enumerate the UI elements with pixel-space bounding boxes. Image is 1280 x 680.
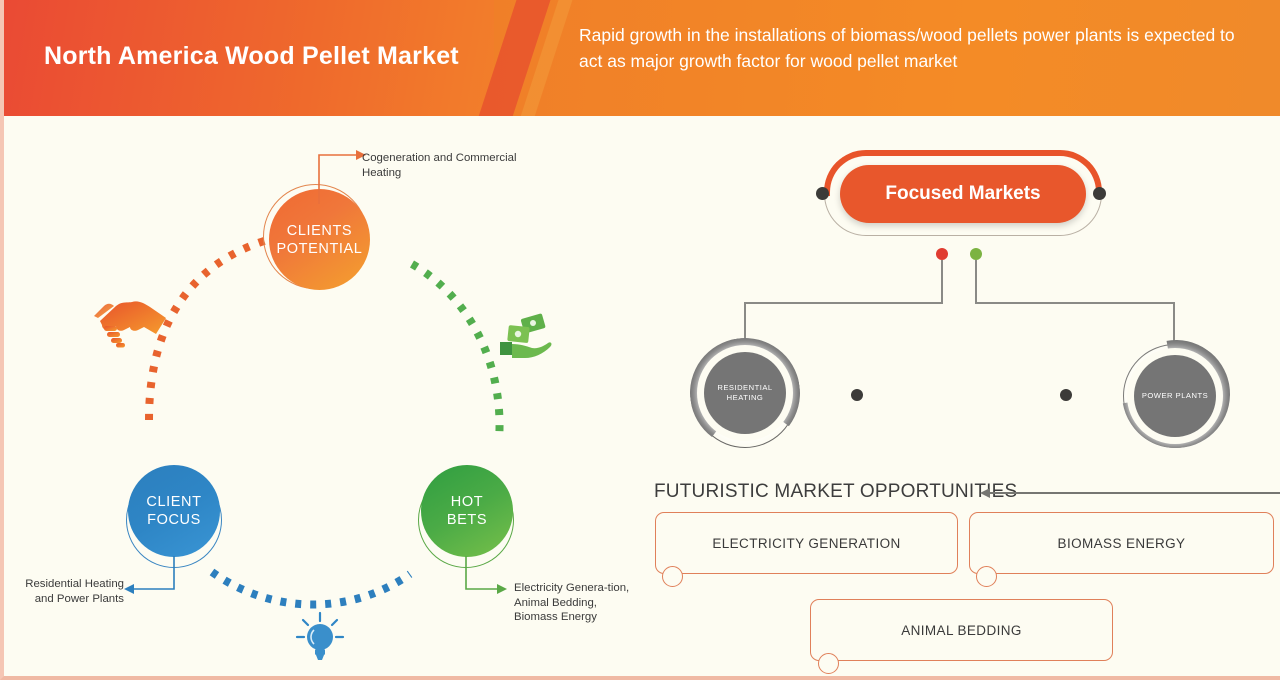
connector-red-vertical: [941, 260, 943, 304]
separator-dot-right: [1060, 389, 1072, 401]
pin-residential[interactable]: [936, 248, 948, 260]
lightbulb-icon: [292, 610, 348, 666]
connector-right-drop: [1173, 302, 1175, 344]
focused-markets-pill[interactable]: Focused Markets: [840, 165, 1086, 223]
residential-heating-label-line1: RESIDENTIAL: [717, 383, 772, 393]
box-biomass-energy[interactable]: BIOMASS ENERGY: [969, 512, 1274, 574]
page-title: North America Wood Pellet Market: [44, 42, 514, 71]
box-electricity-generation[interactable]: ELECTRICITY GENERATION: [655, 512, 958, 574]
clients-potential-label-line2: POTENTIAL: [277, 240, 363, 258]
box-electricity-generation-label: ELECTRICITY GENERATION: [712, 536, 900, 551]
focused-markets-dot-right: [1093, 187, 1106, 200]
box-biomass-energy-label: BIOMASS ENERGY: [1058, 536, 1186, 551]
header-subtitle: Rapid growth in the installations of bio…: [579, 22, 1239, 74]
futuristic-section-title: FUTURISTIC MARKET OPPORTUNITIES: [654, 481, 1017, 503]
client-focus-circle[interactable]: CLIENT FOCUS: [128, 465, 220, 557]
client-focus-label-line1: CLIENT: [146, 493, 201, 511]
box-animal-bedding-label: ANIMAL BEDDING: [901, 623, 1022, 638]
residential-heating-circle[interactable]: RESIDENTIAL HEATING: [704, 352, 786, 434]
box-biomass-energy-knob: [976, 566, 997, 587]
hot-bets-circle[interactable]: HOT BETS: [421, 465, 513, 557]
callout-label-cogeneration: Cogeneration and Commercial Heating: [362, 151, 537, 180]
money-hand-icon: [498, 310, 554, 362]
callout-connector-residential: [112, 548, 232, 618]
box-animal-bedding[interactable]: ANIMAL BEDDING: [810, 599, 1113, 661]
connector-green-vertical: [975, 260, 977, 304]
hot-bets-label-line2: BETS: [447, 511, 487, 529]
box-animal-bedding-knob: [818, 653, 839, 674]
power-plants-circle[interactable]: POWER PLANTS: [1134, 355, 1216, 437]
handshake-icon: [94, 294, 172, 352]
residential-heating-label-line2: HEATING: [717, 393, 772, 403]
header-banner: North America Wood Pellet Market Rapid g…: [4, 0, 1280, 116]
dotted-arc-green: [394, 250, 574, 480]
focused-markets-dot-left: [816, 187, 829, 200]
power-plants-label: POWER PLANTS: [1142, 391, 1208, 401]
clients-potential-label-line1: CLIENTS: [277, 222, 363, 240]
hot-bets-label-line1: HOT: [447, 493, 487, 511]
box-electricity-generation-knob: [662, 566, 683, 587]
infographic-canvas: North America Wood Pellet Market Rapid g…: [0, 0, 1280, 680]
separator-dot-left: [851, 389, 863, 401]
connector-left-horizontal: [744, 302, 943, 304]
pin-power[interactable]: [970, 248, 982, 260]
callout-label-electricity: Electricity Genera-tion, Animal Bedding,…: [514, 581, 632, 625]
futuristic-arrow: [989, 492, 1280, 494]
connector-right-horizontal: [975, 302, 1175, 304]
callout-label-residential: Residential Heating and Power Plants: [12, 577, 124, 606]
client-focus-label-line2: FOCUS: [146, 511, 201, 529]
